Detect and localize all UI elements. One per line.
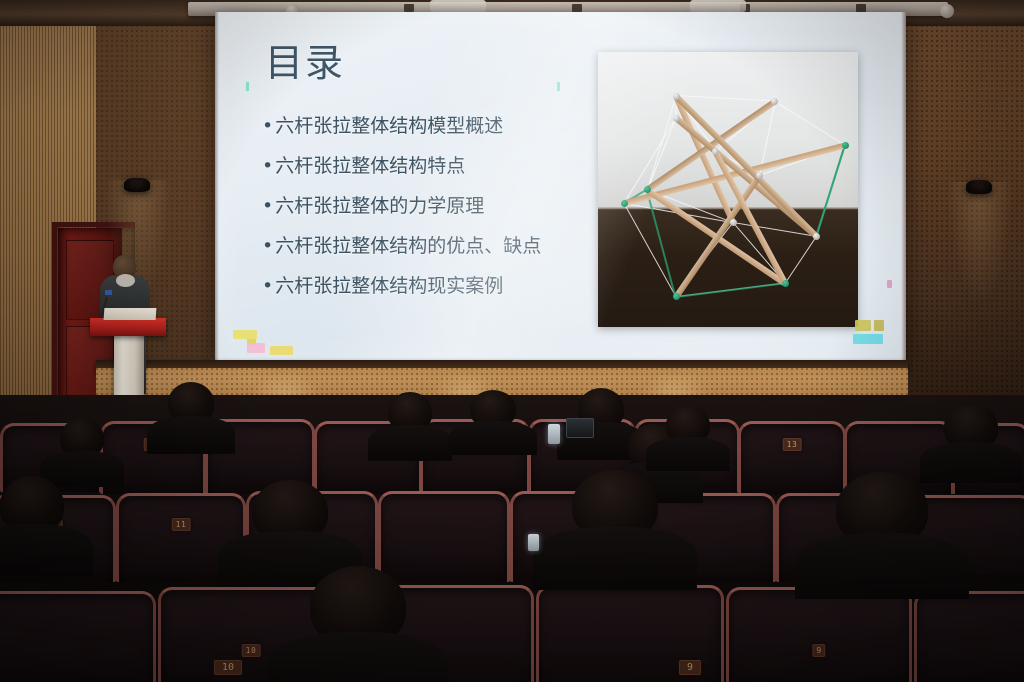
podium-papers: [104, 308, 157, 320]
slide-bullet: •六杆张拉整体的力学原理: [262, 197, 592, 216]
tensegrity-node-green: [842, 142, 849, 149]
sticky-pink: [247, 343, 265, 353]
presenter-badge: [105, 290, 112, 295]
sticky-magenta-edge: [887, 280, 892, 288]
sticky-olive-right: [874, 320, 884, 331]
phone-screen-raised[interactable]: [548, 424, 560, 444]
sticky-cyan-right: [853, 334, 883, 344]
tensegrity-node: [712, 148, 719, 155]
slide-accent-mark: [557, 82, 560, 91]
slide-title: 目录: [265, 44, 345, 82]
wall-lamp-left: [124, 178, 150, 192]
tensegrity-node-green: [621, 200, 628, 207]
presenter-collar: [116, 274, 135, 287]
bullet-marker-icon: •: [262, 117, 273, 136]
attendee-shoulders: [40, 451, 124, 487]
slide-bullet-label: 六杆张拉整体结构的优点、缺点: [275, 237, 541, 256]
slide-bullet-label: 六杆张拉整体的力学原理: [275, 197, 484, 216]
slide-bullet-label: 六杆张拉整体结构特点: [275, 157, 465, 176]
bullet-marker-icon: •: [262, 237, 273, 256]
track-knob: [940, 4, 954, 18]
track-clip: [404, 4, 414, 12]
tensegrity-node-green: [644, 186, 651, 193]
bullet-marker-icon: •: [262, 157, 273, 176]
tensegrity-node-green: [673, 293, 680, 300]
sticky-yellow-mid: [270, 346, 293, 355]
seat-number-plate: 11: [172, 518, 191, 531]
phone-screen-lap[interactable]: [528, 534, 539, 551]
bullet-marker-icon: •: [262, 277, 273, 296]
audience-seat[interactable]: [914, 591, 1024, 682]
phone-body-raised[interactable]: [566, 418, 594, 438]
slide-bullet: •六杆张拉整体结构现实案例: [262, 277, 592, 296]
attendee-shoulders: [449, 421, 536, 455]
audience-seat[interactable]: [0, 591, 156, 682]
tensegrity-node: [730, 219, 737, 226]
screen-edge-right: [901, 12, 906, 360]
bullet-marker-icon: •: [262, 197, 273, 216]
ceiling-light: [690, 0, 746, 12]
track-clip: [856, 4, 866, 12]
slide-bullet-list: •六杆张拉整体结构模型概述•六杆张拉整体结构特点•六杆张拉整体的力学原理•六杆张…: [262, 117, 592, 317]
slide-bullet: •六杆张拉整体结构的优点、缺点: [262, 237, 592, 256]
audience-seat[interactable]: 13: [738, 421, 846, 494]
track-clip: [572, 4, 582, 12]
attendee-shoulders: [646, 437, 730, 471]
seat-number-plate: 10: [214, 660, 242, 675]
seat-number-plate: 10: [242, 644, 261, 657]
tensegrity-node: [813, 233, 820, 240]
perforated-wall-right: [906, 0, 1024, 418]
slide-accent-mark: [246, 82, 249, 91]
slide-bullet-label: 六杆张拉整体结构现实案例: [275, 277, 503, 296]
attendee-shoulders: [920, 442, 1023, 483]
seat-number-plate: 9: [679, 660, 701, 675]
attendee-shoulders: [267, 632, 449, 682]
sticky-yellow-right: [855, 320, 871, 331]
tensegrity-model-photo: [598, 52, 858, 327]
tensegrity-node: [673, 93, 680, 100]
seat-number-plate: 13: [783, 438, 802, 451]
ceiling-light: [430, 0, 486, 12]
tensegrity-node: [673, 115, 680, 122]
attendee-shoulders: [533, 527, 696, 590]
audience-seat[interactable]: [378, 491, 510, 582]
tensegrity-node: [756, 172, 763, 179]
audience-seat[interactable]: 9: [726, 587, 912, 682]
attendee-shoulders: [0, 524, 93, 576]
lecture-hall-screenshot: 目录 •六杆张拉整体结构模型概述•六杆张拉整体结构特点•六杆张拉整体的力学原理•…: [0, 0, 1024, 682]
attendee-shoulders: [795, 533, 970, 600]
tensegrity-node-green: [782, 280, 789, 287]
sticky-yellow-left: [233, 330, 257, 339]
wall-lamp-right: [966, 180, 992, 194]
screen-edge-left: [215, 12, 219, 360]
slide-bullet: •六杆张拉整体结构模型概述: [262, 117, 592, 136]
projection-screen[interactable]: 目录 •六杆张拉整体结构模型概述•六杆张拉整体结构特点•六杆张拉整体的力学原理•…: [215, 12, 906, 360]
slide-bullet-label: 六杆张拉整体结构模型概述: [275, 117, 503, 136]
attendee-shoulders: [147, 416, 234, 454]
podium-desktop: [90, 318, 166, 336]
attendee-shoulders: [368, 425, 452, 461]
seat-number-plate: 9: [812, 644, 825, 657]
slide-bullet: •六杆张拉整体结构特点: [262, 157, 592, 176]
